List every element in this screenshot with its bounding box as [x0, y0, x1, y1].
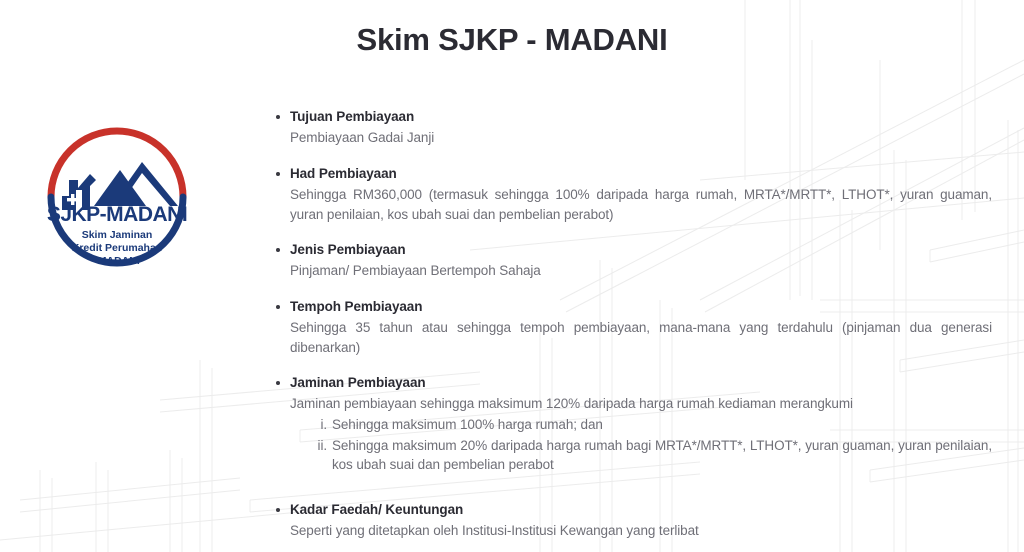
section-tujuan-pembiayaan: Tujuan Pembiayaan Pembiayaan Gadai Janji	[272, 108, 992, 148]
sub-list-text: Sehingga maksimum 100% harga rumah; dan	[332, 415, 992, 435]
sub-list-item: i. Sehingga maksimum 100% harga rumah; d…	[312, 415, 992, 435]
section-heading: Had Pembiayaan	[290, 165, 992, 183]
logo-tagline-line3: -MADANI	[94, 255, 140, 267]
sub-list-marker: ii.	[312, 436, 332, 475]
bullet-icon	[276, 115, 280, 119]
bullet-icon	[276, 305, 280, 309]
sub-list-item: ii. Sehingga maksimum 20% daripada harga…	[312, 436, 992, 475]
section-heading: Tempoh Pembiayaan	[290, 298, 992, 316]
bullet-icon	[276, 248, 280, 252]
page-title: Skim SJKP - MADANI	[0, 22, 1024, 58]
section-jenis-pembiayaan: Jenis Pembiayaan Pinjaman/ Pembiayaan Be…	[272, 241, 992, 281]
section-tempoh-pembiayaan: Tempoh Pembiayaan Sehingga 35 tahun atau…	[272, 298, 992, 357]
scheme-details-list: Tujuan Pembiayaan Pembiayaan Gadai Janji…	[272, 108, 992, 541]
section-kadar-faedah-keuntungan: Kadar Faedah/ Keuntungan Seperti yang di…	[272, 501, 992, 541]
section-body: Sehingga 35 tahun atau sehingga tempoh p…	[290, 318, 992, 357]
section-heading: Tujuan Pembiayaan	[290, 108, 992, 126]
spacer	[272, 492, 992, 501]
section-jaminan-pembiayaan: Jaminan Pembiayaan Jaminan pembiayaan se…	[272, 374, 992, 474]
section-body: Pembiayaan Gadai Janji	[290, 128, 992, 148]
section-body: Pinjaman/ Pembiayaan Bertempoh Sahaja	[290, 261, 992, 281]
section-body: Sehingga RM360,000 (termasuk sehingga 10…	[290, 185, 992, 224]
logo-tagline-line1: Skim Jaminan	[82, 229, 153, 241]
sjkp-madani-logo: SJKP-MADANI Skim Jaminan Kredit Perumaha…	[38, 118, 196, 276]
logo-wordmark: SJKP-MADANI	[47, 203, 187, 226]
section-heading: Kadar Faedah/ Keuntungan	[290, 501, 992, 519]
bullet-icon	[276, 381, 280, 385]
section-heading: Jaminan Pembiayaan	[290, 374, 992, 392]
section-body: Seperti yang ditetapkan oleh Institusi-I…	[290, 521, 992, 541]
section-had-pembiayaan: Had Pembiayaan Sehingga RM360,000 (terma…	[272, 165, 992, 224]
section-body: Jaminan pembiayaan sehingga maksimum 120…	[290, 394, 992, 414]
bullet-icon	[276, 508, 280, 512]
sub-list-text: Sehingga maksimum 20% daripada harga rum…	[332, 436, 992, 475]
sub-list-marker: i.	[312, 415, 332, 435]
section-heading: Jenis Pembiayaan	[290, 241, 992, 259]
bullet-icon	[276, 172, 280, 176]
logo-tagline-line2: Kredit Perumahan	[72, 242, 162, 254]
